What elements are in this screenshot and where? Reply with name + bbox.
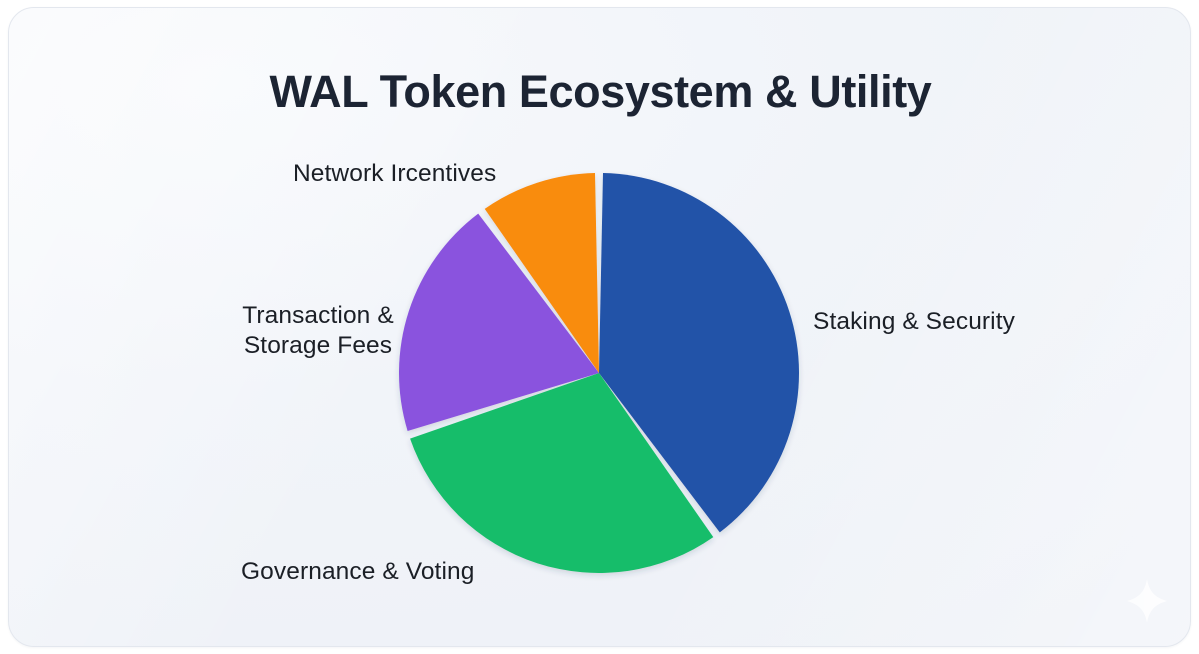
chart-card: WAL Token Ecosystem & Utility Staking & … [8,7,1191,647]
pie-svg [397,171,801,575]
pie-label-governance-voting: Governance & Voting [241,557,474,587]
pie-label-staking-security: Staking & Security [813,307,1015,337]
screenshot-root: WAL Token Ecosystem & Utility Staking & … [0,0,1199,654]
pie-label-network-incentives: Network Ircentives [293,159,496,189]
pie-label-transaction-storage-fees: Transaction & Storage Fees [227,301,409,361]
pie-graphic [397,171,801,575]
pie-chart: Staking & Security Governance & Voting T… [9,8,1191,647]
